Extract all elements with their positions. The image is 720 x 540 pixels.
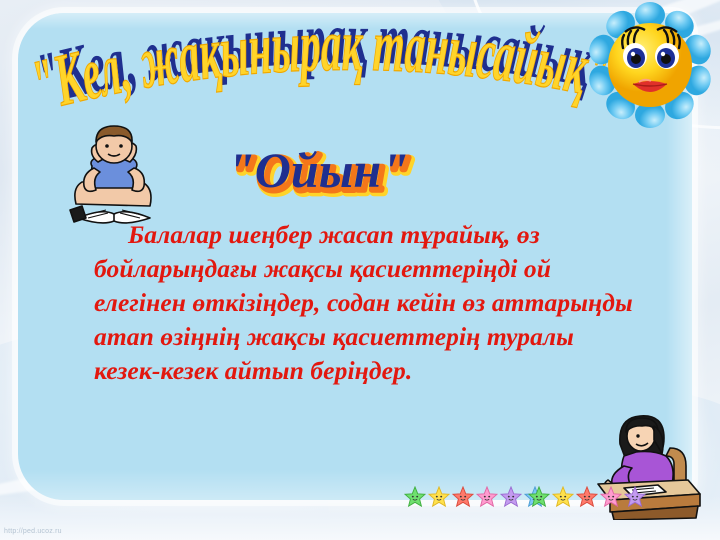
- smiley-star-icon: [552, 486, 574, 508]
- star-row-right: [528, 486, 646, 508]
- wordart-subtitle-face: "Ойын": [227, 142, 409, 198]
- star-row-left: [404, 486, 546, 508]
- boy-reading-book-icon: [56, 122, 174, 230]
- wordart-title: "Кел, жақынырақ танысайық" "Кел, жақыныр…: [24, 5, 624, 140]
- slide-body-text: Балалар шеңбер жасап тұрайық, өз бойлары…: [94, 218, 640, 388]
- wordart-subtitle: "Ойын" "Ойын" "Ойын": [196, 140, 446, 206]
- smiley-star-icon: [624, 486, 646, 508]
- smiley-star-icon: [428, 486, 450, 508]
- presentation-slide: "Кел, жақынырақ танысайық" "Кел, жақыныр…: [0, 0, 720, 540]
- smiley-star-icon: [528, 486, 550, 508]
- smiley-star-icon: [600, 486, 622, 508]
- smiley-star-icon: [576, 486, 598, 508]
- smiley-star-icon: [452, 486, 474, 508]
- smiley-star-icon: [404, 486, 426, 508]
- source-watermark: http://ped.ucoz.ru: [4, 528, 62, 536]
- smiling-flower-sun-icon: [583, 0, 717, 132]
- smiley-star-icon: [500, 486, 522, 508]
- smiley-star-icon: [476, 486, 498, 508]
